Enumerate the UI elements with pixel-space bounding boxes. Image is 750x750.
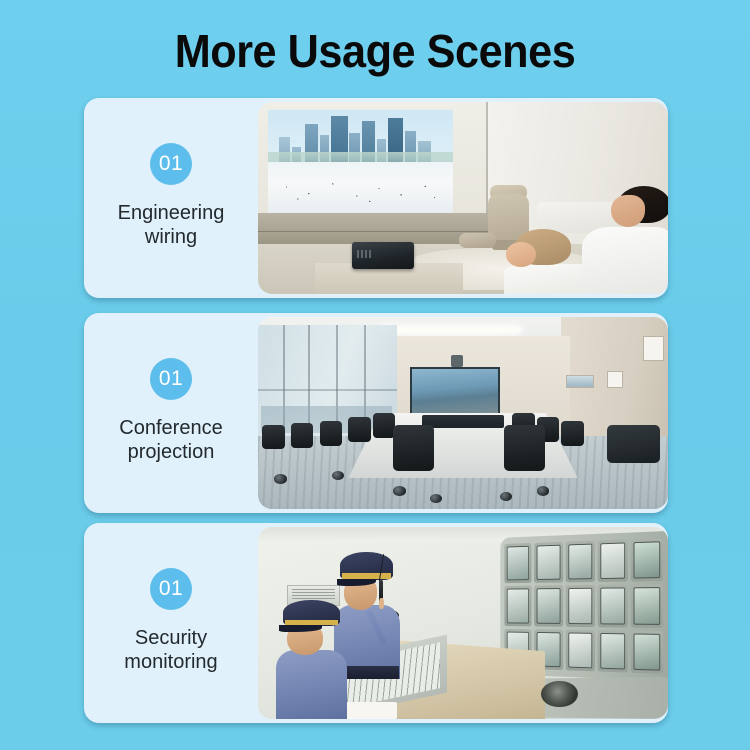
office-chair bbox=[393, 425, 434, 471]
office-chair bbox=[348, 417, 371, 442]
chair-caster bbox=[393, 486, 405, 496]
office-chair bbox=[320, 421, 343, 446]
table-center-panel bbox=[422, 415, 504, 428]
scene-label: Security monitoring bbox=[118, 626, 223, 675]
chair-caster bbox=[332, 471, 344, 481]
office-chair bbox=[291, 423, 314, 448]
usage-scenes-page: More Usage Scenes 01 Engineering wiring bbox=[0, 0, 750, 750]
scene-photo-security-monitoring bbox=[258, 527, 668, 719]
page-title: More Usage Scenes bbox=[23, 24, 728, 78]
ottoman bbox=[459, 233, 496, 248]
chair-caster bbox=[274, 474, 286, 484]
office-chair bbox=[504, 425, 545, 471]
lounge-chair bbox=[607, 425, 660, 463]
scene-card-engineering-wiring[interactable]: 01 Engineering wiring bbox=[84, 98, 668, 298]
scene-card-security-monitoring[interactable]: 01 Security monitoring bbox=[84, 523, 668, 723]
office-chair bbox=[561, 421, 584, 446]
scene-card-info: 01 Engineering wiring bbox=[84, 98, 258, 298]
wall-artwork bbox=[566, 375, 595, 388]
scene-card-info: 01 Conference projection bbox=[84, 313, 258, 513]
wall-artwork bbox=[607, 371, 623, 388]
person-guard-standing bbox=[340, 552, 393, 679]
projection-screen-image bbox=[268, 110, 453, 216]
person-man bbox=[582, 186, 668, 294]
wall-artwork bbox=[643, 336, 664, 361]
scene-number-badge: 01 bbox=[150, 143, 192, 185]
person-guard-seated bbox=[283, 600, 340, 719]
projector-device bbox=[352, 242, 414, 269]
scene-card-conference-projection[interactable]: 01 Conference projection bbox=[84, 313, 668, 513]
office-chair bbox=[373, 413, 396, 438]
scene-number-badge: 01 bbox=[150, 358, 192, 400]
chair-caster bbox=[537, 486, 549, 496]
scene-card-info: 01 Security monitoring bbox=[84, 523, 258, 723]
scene-label: Conference projection bbox=[113, 416, 228, 465]
desk-speaker bbox=[541, 681, 578, 708]
scene-photo-engineering-wiring bbox=[258, 102, 668, 294]
scene-number-badge: 01 bbox=[150, 568, 192, 610]
office-chair bbox=[262, 425, 285, 450]
scene-photo-conference-projection bbox=[258, 317, 668, 509]
ceiling-projector-mount bbox=[451, 355, 463, 367]
wall-projection-screen bbox=[410, 367, 500, 417]
scene-label: Engineering wiring bbox=[112, 201, 231, 250]
person-woman bbox=[504, 229, 594, 294]
people-in-park bbox=[268, 175, 453, 205]
ceiling-light-strip bbox=[380, 327, 521, 333]
